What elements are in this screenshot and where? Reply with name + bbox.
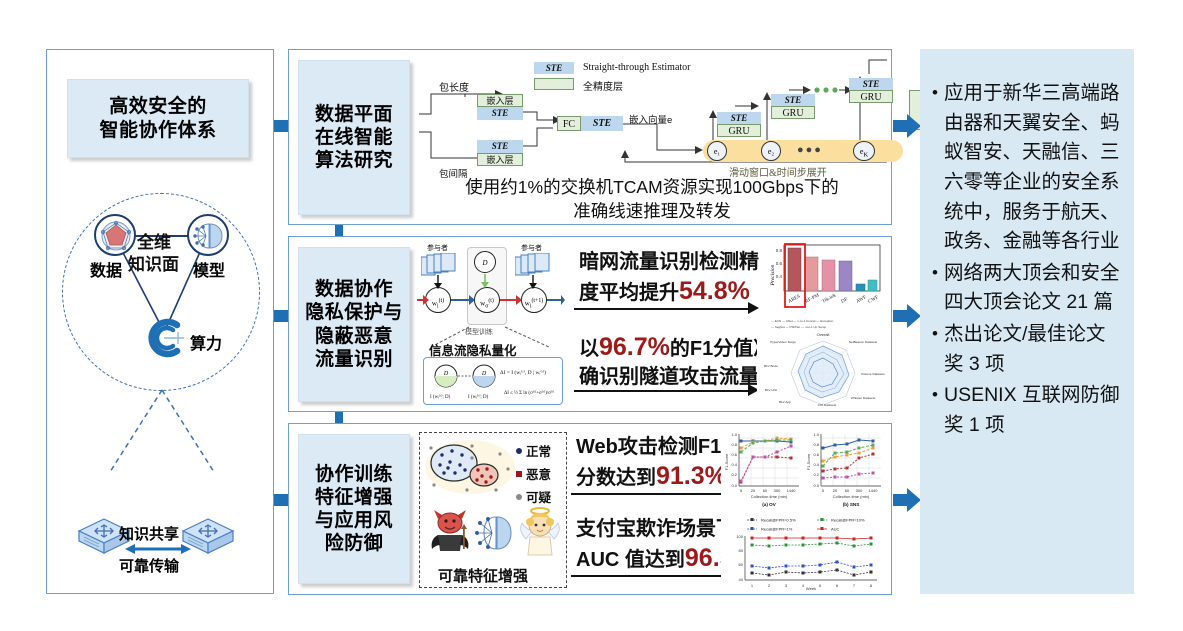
network-label-top: 知识共享 [119,523,179,544]
svg-text:Recall@FPR=10%: Recall@FPR=10% [831,518,865,523]
stage-2-panel: 数据协作 隐私保护与 隐蔽恶意 流量识别 参与者 参与者 [288,236,892,412]
node-model-label: 模型 [193,257,225,281]
stage-2-title-box: 数据协作 隐私保护与 隐蔽恶意 流量识别 [298,247,410,402]
stage-1-caption: 使用约1%的交换机TCAM资源实现100Gbps下的 准确线速推理及转发 [417,176,887,223]
svg-text:ARES: ARES [788,294,802,305]
legend-suspicious-marker [516,494,522,500]
stage-3-title-box: 协作训练 特征增强 与应用风 险防御 [298,434,410,584]
stage-3-callout-1-highlight: 91.3% [656,462,727,490]
svg-text:Collection time (min): Collection time (min) [751,494,788,499]
bullet-marker: • [926,381,944,409]
gru-1-ste: STE [717,112,761,124]
stage-1-title-box: 数据平面 在线智能 算法研究 [298,60,410,215]
stage-2-callout-1-line1: 暗网流量识别检测精 [579,249,789,275]
overview-title-line1: 高效安全的 [109,95,207,118]
svg-text:— SegNet — PSPNet — n-to-1 Up: — SegNet — PSPNet — n-to-1 Up Samp [771,325,826,329]
stage-1-title-line-1: 在线智能 [315,126,393,149]
svg-text:1440: 1440 [787,488,797,493]
svg-text:0.6: 0.6 [776,261,783,266]
svg-text:Overall: Overall [817,332,830,337]
svg-text:300: 300 [856,488,863,493]
svg-text:Whisper Datasets: Whisper Datasets [851,396,876,400]
triangle-connectors [62,193,260,403]
svg-text:F1-Score: F1-Score [806,453,811,470]
node-model-circle [187,214,229,256]
stage-3-panel: 协作训练 特征增强 与应用风 险防御 [288,423,892,595]
svg-text:ΔI = I (w​ᵢ⁽ᵗ⁾, D | w​ᵢ⁽ᵗ⁾): ΔI = I (w​ᵢ⁽ᵗ⁾, D | w​ᵢ⁽ᵗ⁾) [500,369,546,376]
svg-text:8: 8 [870,583,873,588]
svg-text:3: 3 [785,583,788,588]
svg-text:80: 80 [739,548,744,553]
overall-radar-chart: — ECN — CNet — n-to-1 Concat — Exception… [757,315,889,409]
svg-text:40: 40 [739,577,744,582]
stage-1-caption-line1: 使用约1%的交换机TCAM资源实现100Gbps下的 [417,176,887,200]
arrow-stage2-to-results [893,303,921,329]
node-compute-icon [140,314,188,362]
embed-layer-bottom: 嵌入层 [477,153,523,166]
svg-text:6: 6 [836,583,839,588]
svg-text:Recall@FPR=0.5%: Recall@FPR=0.5% [761,518,796,523]
results-bullet-0: 应用于新华三高端路由器和天翼安全、蚂蚁智安、天融信、三六零等企业的安全系统中，服… [944,79,1120,257]
stage-1-title-line-0: 数据平面 [315,103,393,126]
embed-layer-top: 嵌入层 [477,94,523,107]
svg-text:F1-Score: F1-Score [724,453,729,470]
list-item: • 杰出论文/最佳论文奖 3 项 [926,320,1120,379]
results-bullet-list: • 应用于新华三高端路由器和天翼安全、蚂蚁智安、天融信、三六零等企业的安全系统中… [926,79,1120,441]
stage-2-callout-2-prefix: 以 [579,338,599,360]
gru-2-body: GRU [771,106,815,119]
token-ek: eK [853,141,875,161]
svg-text:1.0: 1.0 [731,432,737,437]
gru-1-body: GRU [717,124,761,137]
ste-top: STE [477,107,523,120]
stage-1-panel: 数据平面 在线智能 算法研究 STE Straight-through Esti… [288,49,892,225]
brain-chip-icon [475,513,515,558]
svg-text:Recall@FPR=1%: Recall@FPR=1% [761,527,793,532]
arrow-stage3-to-results [893,487,921,513]
svg-text:2: 2 [768,583,771,588]
stage-2-diagram: 参与者 参与者 [417,243,565,407]
stage-3-title-line-1: 特征增强 [315,486,393,509]
stage-2-callout-1-prefix: 度平均提升 [579,282,679,304]
stage-2-rule-2 [574,390,749,392]
svg-text:0.0: 0.0 [813,483,819,488]
arrow-stage1-to-results [893,113,921,139]
stage-2-title-line-1: 隐私保护与 [305,301,403,324]
svg-text:Week: Week [806,586,816,590]
svg-text:0.8: 0.8 [776,248,783,253]
svg-text:60: 60 [763,488,768,493]
stage-1-caption-line2: 准确线速推理及转发 [417,200,887,224]
svg-text:AUC: AUC [831,527,840,532]
stage-3-title-line-0: 协作训练 [315,463,393,486]
svg-text:0.2: 0.2 [731,472,737,477]
node-compute-label: 算力 [190,330,222,354]
knowledge-plane-label-line2: 知识面 [128,250,179,275]
stage-2-rule-1-head [748,302,759,314]
bullet-marker: • [926,259,944,287]
legend-normal-label: 正常 [526,441,551,460]
stage-3-callout-1-prefix: 分数达到 [576,467,656,489]
svg-text:1.0: 1.0 [813,432,819,437]
svg-text:BLV App: BLV App [779,400,791,404]
svg-text:BLV Brute: BLV Brute [764,364,778,368]
list-item: • 网络两大顶会和安全四大顶会论文 21 篇 [926,259,1120,318]
svg-text:ΔI ≤ ½ Σ ln (σ⁽ᵗ⁾+σ⁽ᵗ⁾)/σ⁽ᵗ⁾: ΔI ≤ ½ Σ ln (σ⁽ᵗ⁾+σ⁽ᵗ⁾)/σ⁽ᵗ⁾ [504,390,554,396]
f1-line-chart-ov: 1.00.80.6 0.40.20.0 F1-Score 52060 30014… [721,428,803,508]
svg-text:100: 100 [736,534,743,539]
results-bullet-3: USENIX 互联网防御奖 1 项 [944,381,1120,440]
stage-2-callout-1: 暗网流量识别检测精 度平均提升54.8% [579,249,789,308]
switch-right-icon [177,515,239,567]
results-box: • 应用于新华三高端路由器和天翼安全、蚂蚁智安、天融信、三六零等企业的安全系统中… [920,49,1134,594]
svg-text:0.8: 0.8 [731,442,737,447]
bullet-marker: • [926,320,944,348]
legend-malicious-marker [516,471,522,477]
left-overview-panel: 高效安全的 智能协作体系 [46,49,274,594]
svg-text:DF: DF [841,297,849,305]
stage-2-callout-2-highlight: 96.7% [599,333,670,361]
svg-text:0.6: 0.6 [731,452,737,457]
gru-k-body: GRU [849,90,893,103]
node-data-label: 数据 [90,257,122,281]
list-item: • 应用于新华三高端路由器和天翼安全、蚂蚁智安、天融信、三六零等企业的安全系统中… [926,79,1120,257]
svg-text:5: 5 [819,583,822,588]
svg-text:HyperVision Surge: HyperVision Surge [770,340,796,344]
svg-text:0.4: 0.4 [731,462,737,467]
feature-enhancement-caption: 可靠特征增强 [438,565,528,586]
model-training-label: 模型训练 [465,327,493,337]
svg-text:— ECN — CNet — n-to-1 Concat: — ECN — CNet — n-to-1 Concat — Exception [771,319,834,323]
svg-text:0.4: 0.4 [813,462,819,467]
legend-normal-marker [516,448,522,454]
token-e1: e₁ [707,141,727,161]
stage-3-title-line-2: 与应用风 [315,509,393,532]
stage-2-title-line-2: 隐蔽恶意 [315,325,393,348]
sphere-to-network-links [62,380,262,510]
network-label-bottom: 可靠传输 [119,555,179,576]
legend-malicious-label: 恶意 [526,464,551,483]
svg-text:0.0: 0.0 [731,483,737,488]
svg-text:300: 300 [774,488,781,493]
svg-text:0.6: 0.6 [813,452,819,457]
stage-2-title-line-0: 数据协作 [315,278,393,301]
results-bullet-1: 网络两大顶会和安全四大顶会论文 21 篇 [944,259,1120,318]
gru-2-ste: STE [771,94,815,106]
svg-text:60: 60 [739,562,744,567]
svg-text:0.2: 0.2 [813,472,819,477]
angel-icon [516,503,562,566]
token-e2: e₂ [761,141,781,161]
privacy-quant-box: D D ΔI = I (w​ᵢ⁽ᵗ⁾, D | w​ᵢ⁽ᵗ⁾) I (w​ᵢ⁽ᵗ… [423,357,563,405]
svg-text:BLV LFA: BLV LFA [765,388,778,392]
slide-root: 高效安全的 智能协作体系 [0,0,1183,631]
stage-1-diagram: STE Straight-through Estimator 全精度层 包长度 … [417,54,887,184]
stage-1-title-line-2: 算法研究 [315,149,393,172]
stage-2-title-line-3: 流量识别 [315,348,393,371]
stage-3-callout-2-prefix: AUC 值达到 [576,549,685,571]
svg-text:NetBeacon Datasets: NetBeacon Datasets [849,340,878,344]
svg-text:5: 5 [740,488,743,493]
svg-text:I (w​ᵢ⁽ᵗ⁾; D): I (w​ᵢ⁽ᵗ⁾; D) [468,394,489,400]
gru-k-ste: STE [849,78,893,90]
stage-3-rule-2 [571,575,741,577]
feature-enhancement-box: 正常 恶意 可疑 [419,432,567,588]
feature-cluster-illustration [424,437,516,497]
overview-title-line2: 智能协作体系 [99,119,216,142]
feature-legend: 正常 恶意 可疑 [516,441,551,506]
svg-text:(a) OV: (a) OV [762,502,776,507]
ste-bottom: STE [477,140,523,153]
svg-text:RF-PM: RF-PM [805,293,821,305]
svg-text:5: 5 [822,488,825,493]
svg-text:AWF: AWF [856,295,868,305]
weekly-metric-chart: Recall@FPR=0.5% Recall@FPR=10% Recall@FP… [721,512,885,590]
svg-text:7: 7 [853,583,856,588]
results-bullet-2: 杰出论文/最佳论文奖 3 项 [944,320,1120,379]
list-item: • USENIX 互联网防御奖 1 项 [926,381,1120,440]
svg-text:Kitsune Datasets: Kitsune Datasets [861,372,885,376]
svg-text:1: 1 [751,583,754,588]
bullet-marker: • [926,79,944,107]
svg-text:CIC Datasets: CIC Datasets [818,403,837,407]
f1-line-chart-sns: 1.00.80.6 0.40.20.0 F1-Score 52060 30014… [803,428,885,508]
token-ellipsis: ●●● [797,144,823,156]
svg-text:Collection time (min): Collection time (min) [833,494,870,499]
switch-link-arrow [125,543,191,555]
results-panel: • 应用于新华三高端路由器和天翼安全、蚂蚁智安、天融信、三六零等企业的安全系统中… [920,49,1134,594]
svg-text:D: D [481,371,487,377]
fc-block: FC [557,116,581,131]
svg-text:(b) SNS: (b) SNS [843,502,860,507]
svg-text:Tik-tok: Tik-tok [822,293,838,305]
devil-icon [428,505,472,564]
precision-bar-chart: Precision 0.8 0.6 0.4 ARES RF-PM Tik-tok… [762,243,884,317]
overview-title-box: 高效安全的 智能协作体系 [67,79,249,158]
stage-3-rule-1 [571,493,741,495]
svg-text:20: 20 [833,488,838,493]
stage-2-rule-1 [574,308,749,310]
svg-text:D: D [443,371,449,377]
svg-text:0.8: 0.8 [813,442,819,447]
stage-2-callout-1-highlight: 54.8% [679,277,750,305]
svg-text:60: 60 [845,488,850,493]
svg-text:0.4: 0.4 [776,274,783,279]
svg-text:1440: 1440 [869,488,879,493]
svg-text:20: 20 [751,488,756,493]
stage-3-title-line-3: 险防御 [325,532,384,555]
svg-text:CWF: CWF [868,295,880,305]
svg-text:4: 4 [802,583,805,588]
svg-text:I (w​ᵢ⁽ᵗ⁾; D): I (w​ᵢ⁽ᵗ⁾; D) [430,394,451,400]
